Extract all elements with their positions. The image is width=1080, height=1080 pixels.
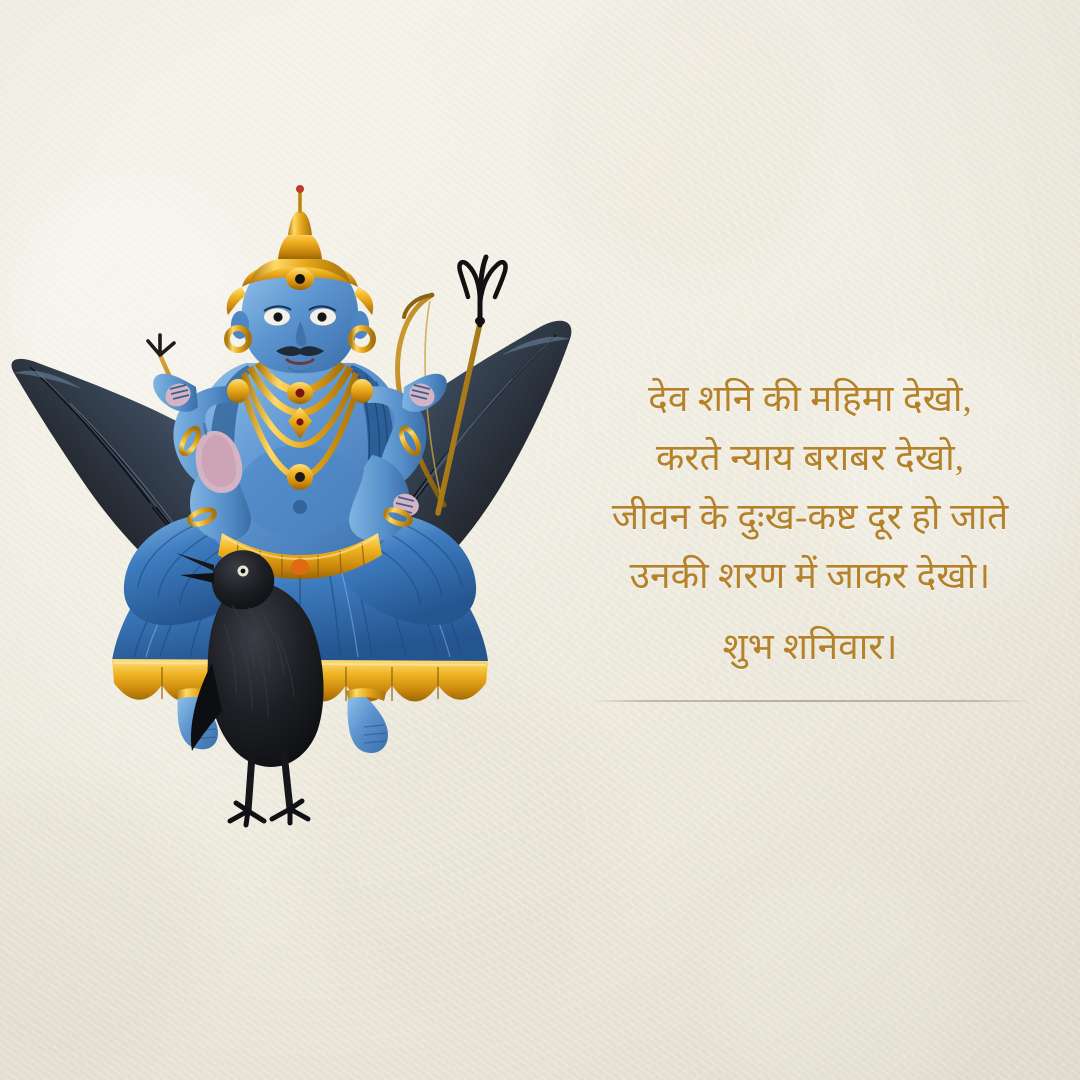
quote-line-1: देव शनि की महिमा देखो, xyxy=(560,370,1060,429)
pendant-upper xyxy=(287,382,313,404)
pendant-lower xyxy=(287,464,313,490)
greeting-card-canvas: देव शनि की महिमा देखो, करते न्याय बराबर … xyxy=(0,0,1080,1080)
greeting-text: शुभ शनिवार। xyxy=(560,618,1060,678)
divider-rule xyxy=(590,700,1030,702)
quote-line-2: करते न्याय बराबर देखो, xyxy=(560,429,1060,488)
shani-dev-illustration xyxy=(0,255,600,825)
quote-block: देव शनि की महिमा देखो, करते न्याय बराबर … xyxy=(560,370,1060,702)
quote-line-4: उनकी शरण में जाकर देखो। xyxy=(560,547,1060,606)
quote-line-3: जीवन के दुःख-कष्ट दूर हो जाते xyxy=(560,488,1060,547)
